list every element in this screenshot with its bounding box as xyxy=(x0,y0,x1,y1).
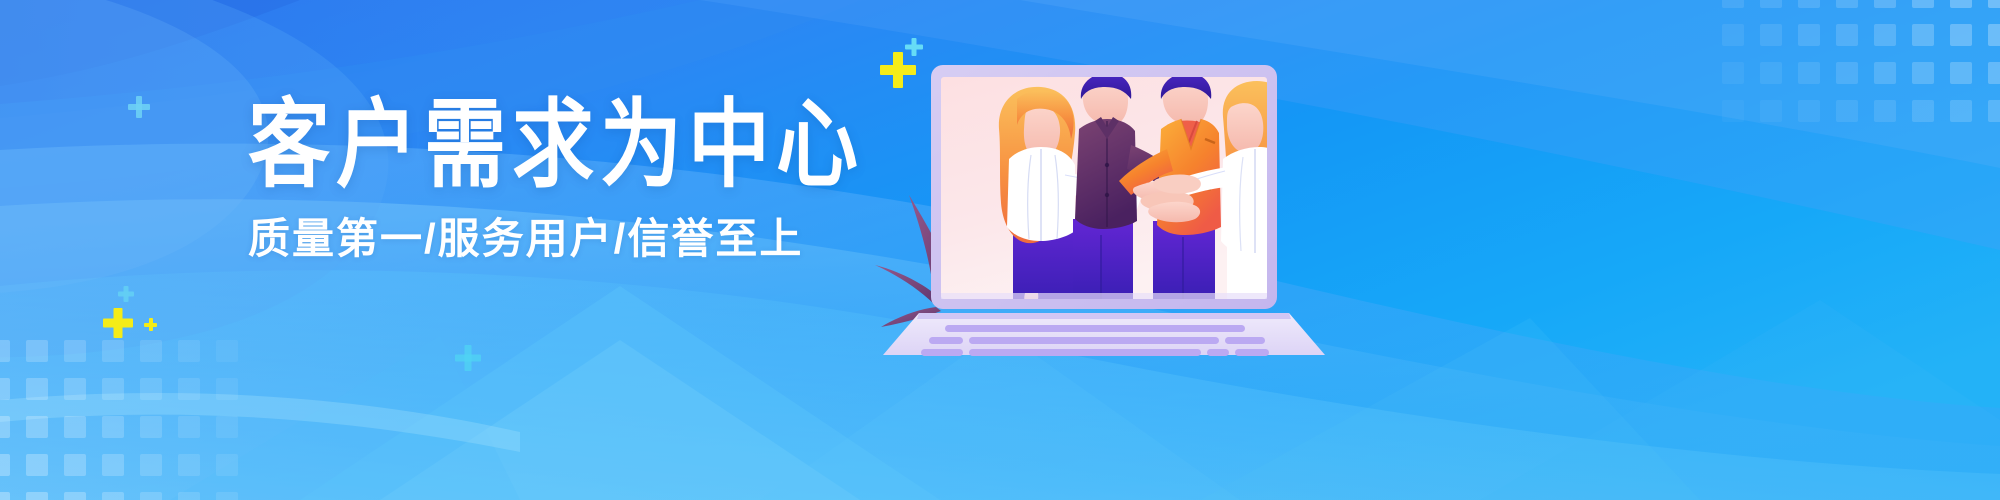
plus-yellow-bottom-icon xyxy=(103,308,133,338)
promo-banner: 客户需求为中心 质量第一/服务用户/信誉至上 xyxy=(0,0,2000,500)
dot-grid-bottom-left xyxy=(0,340,238,500)
laptop-keyboard xyxy=(883,313,1325,356)
page-title: 客户需求为中心 xyxy=(248,98,948,195)
plus-cyan-small-top-icon xyxy=(905,38,923,56)
page-subtitle: 质量第一/服务用户/信誉至上 xyxy=(248,218,948,260)
plus-cyan-center-icon xyxy=(455,345,481,371)
laptop-team-illustration xyxy=(905,55,1325,355)
plus-cyan-laptop-icon xyxy=(128,96,150,118)
plus-yellow-tiny-icon xyxy=(144,318,157,331)
headline-block: 客户需求为中心 质量第一/服务用户/信誉至上 xyxy=(248,98,948,260)
plus-cyan-bottom-left-icon xyxy=(118,286,134,302)
dot-grid-top-right xyxy=(1722,0,2000,122)
